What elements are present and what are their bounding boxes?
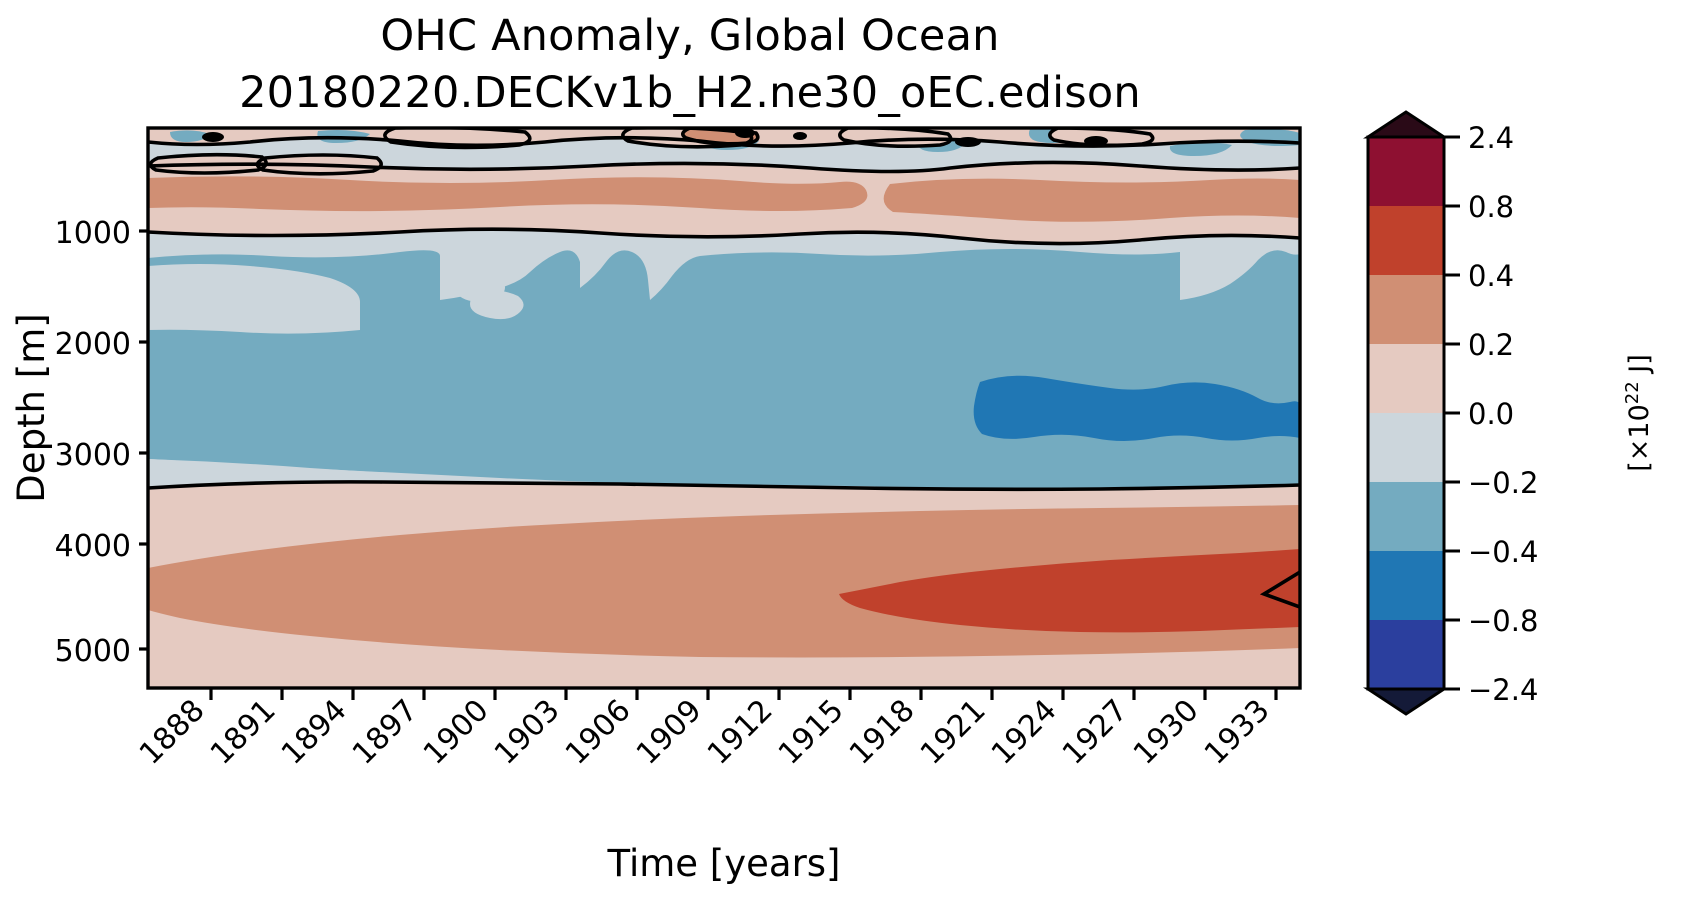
y-tick-label: 4000 <box>55 529 131 564</box>
contour-field <box>148 128 1300 689</box>
x-tick-label: 1888 <box>133 693 212 772</box>
colorbar-extend-top <box>1368 112 1444 137</box>
figure-canvas: OHC Anomaly, Global Ocean20180220.DECKv1… <box>0 0 1698 910</box>
colorbar[interactable]: 2.4 0.8 0.4 0.2 0.0 −0.2 −0.4 −0.8 −2.4 … <box>1368 112 1655 714</box>
colorbar-band-neg0_2-0_0 <box>1368 413 1444 482</box>
x-tick-label: 1903 <box>488 693 567 772</box>
colorbar-tick-label: 0.2 <box>1468 328 1514 362</box>
x-tick-label: 1924 <box>985 693 1064 772</box>
colorbar-tick-labels: 2.4 0.8 0.4 0.2 0.0 −0.2 −0.4 −0.8 −2.4 <box>1468 121 1538 707</box>
colorbar-tick-label: −2.4 <box>1468 673 1538 707</box>
colorbar-tick-label: 0.4 <box>1468 259 1514 293</box>
x-tick-label: 1921 <box>914 693 993 772</box>
colorbar-label-suffix: J] <box>1624 354 1655 381</box>
x-tick-label: 1897 <box>346 693 425 772</box>
colorbar-band-0_8-2_4 <box>1368 137 1444 206</box>
colorbar-tick-marks <box>1444 137 1460 689</box>
x-tick-label: 1927 <box>1056 693 1135 772</box>
colorbar-tick-label: −0.2 <box>1468 466 1538 500</box>
y-tick-labels: 1000 2000 3000 4000 5000 <box>55 216 131 669</box>
x-tick-label: 1930 <box>1127 693 1206 772</box>
x-tick-label: 1891 <box>204 693 283 772</box>
colorbar-band-0_4-0_8 <box>1368 206 1444 275</box>
plot-svg: 1000 2000 3000 4000 5000 Depth [m] 1888 … <box>0 0 1698 910</box>
x-tick-label: 1918 <box>843 693 922 772</box>
x-tick-label: 1906 <box>559 693 638 772</box>
y-axis-label: Depth [m] <box>10 313 53 502</box>
colorbar-band-neg2_4-neg0_8 <box>1368 620 1444 689</box>
x-tick-marks <box>211 688 1276 700</box>
colorbar-tick-label: −0.4 <box>1468 535 1538 569</box>
colorbar-band-neg0_4-neg0_2 <box>1368 482 1444 551</box>
colorbar-band-neg0_8-neg0_4 <box>1368 551 1444 620</box>
x-tick-label: 1912 <box>701 693 780 772</box>
x-axis-label: Time [years] <box>606 842 840 885</box>
colorbar-tick-label: 0.8 <box>1468 190 1514 224</box>
y-tick-label: 5000 <box>55 634 131 669</box>
x-tick-label: 1933 <box>1198 693 1277 772</box>
x-tick-label: 1915 <box>772 693 851 772</box>
x-tick-label: 1894 <box>275 693 354 772</box>
y-tick-label: 3000 <box>55 438 131 473</box>
colorbar-tick-label: 2.4 <box>1468 121 1514 155</box>
y-tick-label: 1000 <box>55 216 131 251</box>
colorbar-band-0_2-0_4 <box>1368 275 1444 344</box>
x-tick-labels: 1888 1891 1894 1897 1900 1903 1906 1909 … <box>133 693 1277 772</box>
colorbar-extend-bottom <box>1368 689 1444 714</box>
colorbar-band-0_0-0_2 <box>1368 344 1444 413</box>
colorbar-tick-label: −0.8 <box>1468 604 1538 638</box>
colorbar-label-exponent: 22 <box>1622 381 1643 404</box>
colorbar-label-prefix: [×10 <box>1624 404 1655 472</box>
colorbar-tick-label: 0.0 <box>1468 397 1514 431</box>
y-tick-label: 2000 <box>55 327 131 362</box>
svg-text:[×1022 J]: [×1022 J] <box>1622 354 1655 472</box>
x-tick-label: 1900 <box>417 693 496 772</box>
x-tick-label: 1909 <box>630 693 709 772</box>
colorbar-label: [×1022 J] <box>1622 354 1655 472</box>
